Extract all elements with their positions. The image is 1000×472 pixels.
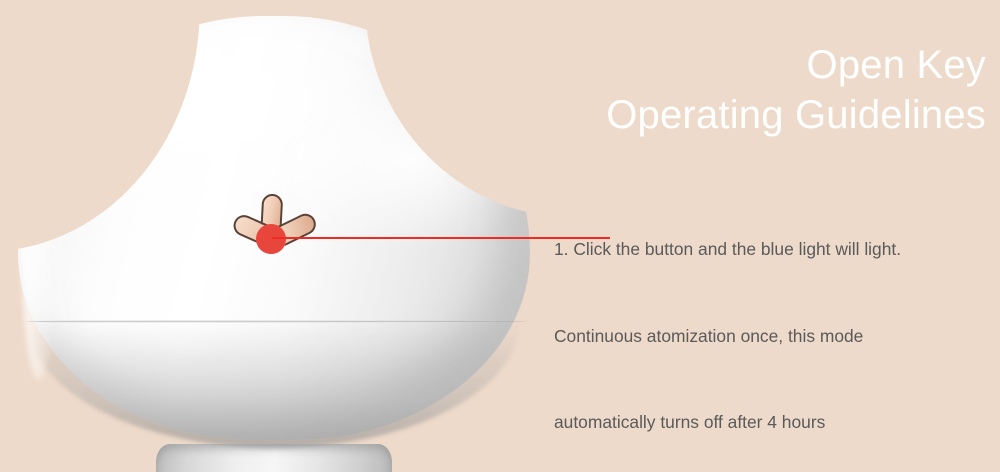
page-title: Open Key Operating Guidelines [512,40,986,140]
text-column: Open Key Operating Guidelines 1. Click t… [512,0,986,472]
instruction-line: automatically turns off after 4 hours [554,408,986,437]
instruction-line: Continuous atomization once, this mode [554,322,986,351]
product-base [156,444,392,472]
marketing-image-stage: Open Key Operating Guidelines 1. Click t… [0,0,1000,472]
page-title-line-1: Open Key [512,40,986,90]
product-seam-line [26,320,526,323]
product-illustration [0,0,560,472]
page-title-line-2: Operating Guidelines [512,90,986,140]
y-shaped-power-button[interactable] [228,192,328,284]
instruction-list: 1. Click the button and the blue light w… [554,178,986,472]
instruction-line: 1. Click the button and the blue light w… [554,235,986,264]
